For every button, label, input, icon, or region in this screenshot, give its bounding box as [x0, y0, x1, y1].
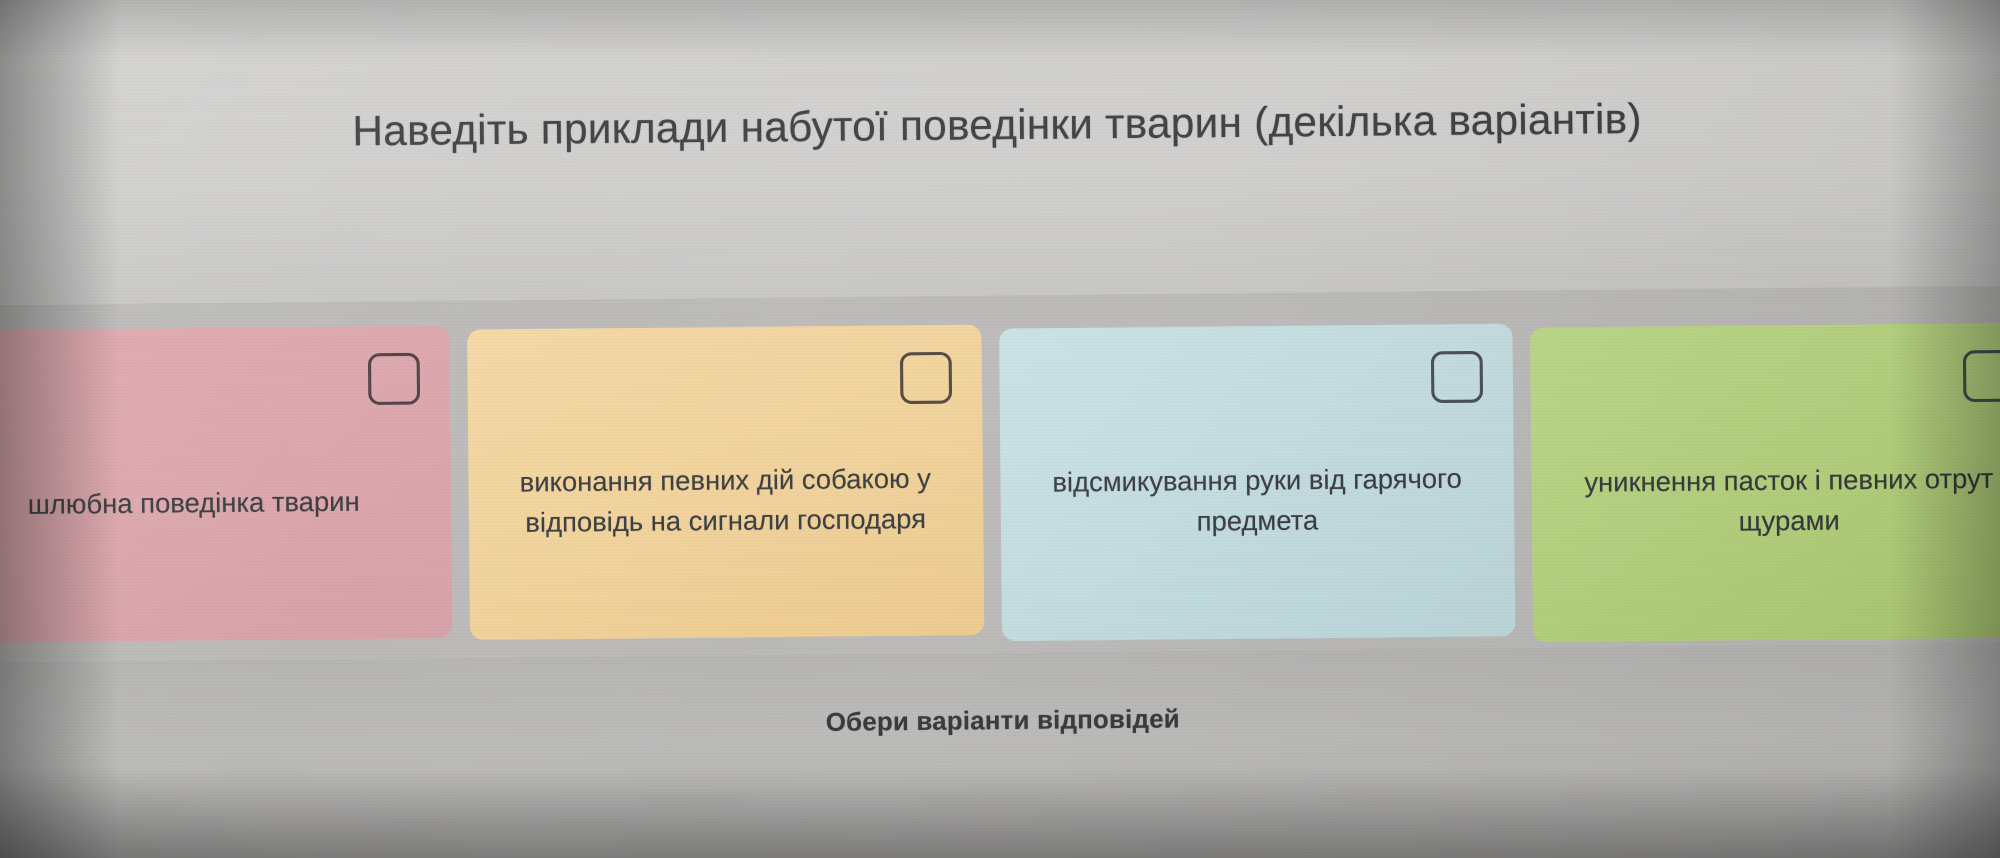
checkbox-unchecked-icon[interactable]	[368, 353, 420, 405]
screen-perspective-wrapper: Наведіть приклади набутої поведінки твар…	[0, 0, 2000, 858]
answer-options-row: шлюбна поведінка тварин виконання певних…	[0, 308, 2000, 649]
question-header: Наведіть приклади набутої поведінки твар…	[0, 0, 2000, 305]
question-title: Наведіть приклади набутої поведінки твар…	[352, 95, 1642, 156]
instruction-footer: Обери варіанти відповідей	[0, 643, 2000, 858]
answer-option-4-label: уникнення пасток і певних отрут щурами	[1558, 459, 2000, 543]
photographed-screen: Наведіть приклади набутої поведінки твар…	[0, 0, 2000, 858]
answer-option-1[interactable]: шлюбна поведінка тварин	[0, 326, 452, 643]
answer-options-band: шлюбна поведінка тварин виконання певних…	[0, 286, 2000, 663]
answer-option-2[interactable]: виконання певних дій собакою у відповідь…	[467, 325, 984, 640]
answer-option-3-label: відсмикування руки від гарячого предмета	[1027, 459, 1488, 543]
checkbox-unchecked-icon[interactable]	[1963, 350, 2000, 402]
answer-option-2-label: виконання певних дій собакою у відповідь…	[495, 459, 956, 543]
instruction-text: Обери варіанти відповідей	[826, 705, 1180, 738]
answer-option-4[interactable]: уникнення пасток і певних отрут щурами	[1530, 323, 2000, 643]
checkbox-unchecked-icon[interactable]	[1431, 351, 1483, 403]
answer-option-3[interactable]: відсмикування руки від гарячого предмета	[999, 324, 1516, 641]
quiz-screen: Наведіть приклади набутої поведінки твар…	[0, 0, 2000, 858]
checkbox-unchecked-icon[interactable]	[899, 352, 951, 404]
answer-option-1-label: шлюбна поведінка тварин	[28, 481, 360, 524]
